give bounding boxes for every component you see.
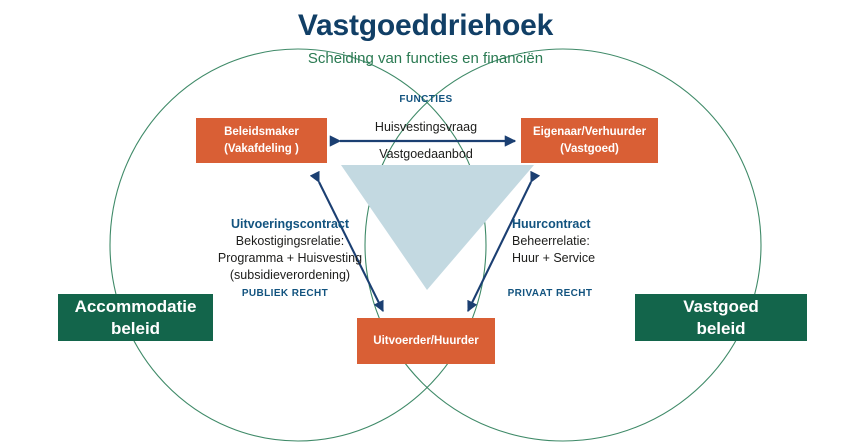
uitvoeringscontract-line1: Bekostigingsrelatie: [205,233,375,250]
huurcontract-heading: Huurcontract [512,216,672,233]
node-accommodatiebeleid-line2: beleid [75,318,197,339]
huurcontract-line1: Beheerrelatie: [512,233,672,250]
node-eigenaar-verhuurder[interactable]: Eigenaar/Verhuurder (Vastgoed) [521,118,658,163]
uitvoeringscontract-heading: Uitvoeringscontract [205,216,375,233]
label-functies: FUNCTIES [376,94,476,105]
block-uitvoeringscontract: Uitvoeringscontract Bekostigingsrelatie:… [205,216,375,284]
node-uitvoerder-line1: Uitvoerder/Huurder [373,333,478,350]
uitvoeringscontract-line2: Programma + Huisvesting [205,250,375,267]
label-vastgoedaanbod: Vastgoedaanbod [346,147,506,161]
diagram-canvas: Vastgoeddriehoek Scheiding van functies … [0,0,851,446]
block-huurcontract: Huurcontract Beheerrelatie: Huur + Servi… [512,216,672,267]
node-eigenaar-line2: (Vastgoed) [533,141,646,158]
label-publiek-recht: PUBLIEK RECHT [225,288,345,299]
node-vastgoedbeleid-line1: Vastgoed [683,296,759,317]
node-uitvoerder-huurder[interactable]: Uitvoerder/Huurder [357,318,495,364]
label-privaat-recht: PRIVAAT RECHT [490,288,610,299]
node-accommodatiebeleid[interactable]: Accommodatie beleid [58,294,213,341]
node-beleidsmaker[interactable]: Beleidsmaker (Vakafdeling ) [196,118,327,163]
huurcontract-line2: Huur + Service [512,250,672,267]
page-title: Vastgoeddriehoek [0,9,851,43]
node-beleidsmaker-line1: Beleidsmaker [224,124,299,141]
page-subtitle: Scheiding van functies en financiën [0,50,851,67]
label-huisvestingsvraag: Huisvestingsvraag [346,120,506,134]
node-vastgoedbeleid-line2: beleid [683,318,759,339]
node-beleidsmaker-line2: (Vakafdeling ) [224,141,299,158]
node-accommodatiebeleid-line1: Accommodatie [75,296,197,317]
uitvoeringscontract-line3: (subsidieverordening) [205,267,375,284]
node-vastgoedbeleid[interactable]: Vastgoed beleid [635,294,807,341]
node-eigenaar-line1: Eigenaar/Verhuurder [533,124,646,141]
